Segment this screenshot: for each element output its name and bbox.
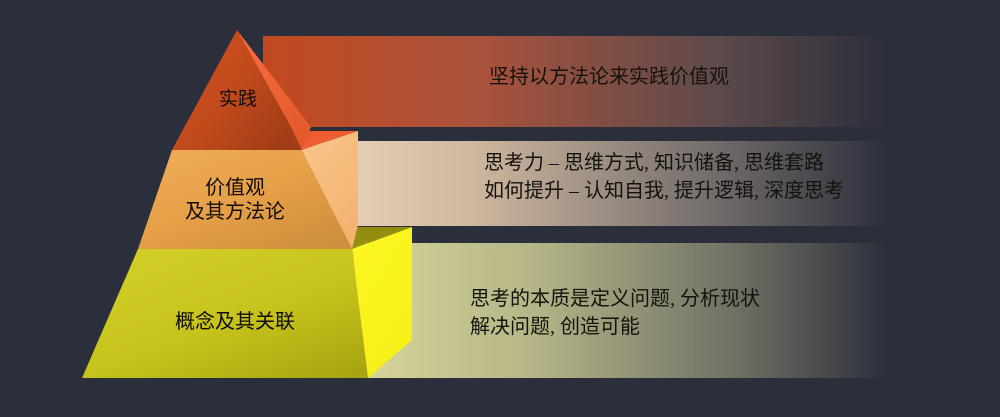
- banner-bar-middle: [300, 141, 890, 226]
- banner-bar-bottom: [355, 243, 890, 378]
- pyramid-diagram-canvas: 实践 价值观 及其方法论 概念及其关联 坚持以方法论来实践价值观 思考力 – 思…: [0, 0, 1000, 417]
- pyramid-level-bottom-front-face[interactable]: [82, 249, 368, 378]
- banner-bar-top: [263, 36, 890, 127]
- pyramid-graphics: [0, 0, 1000, 417]
